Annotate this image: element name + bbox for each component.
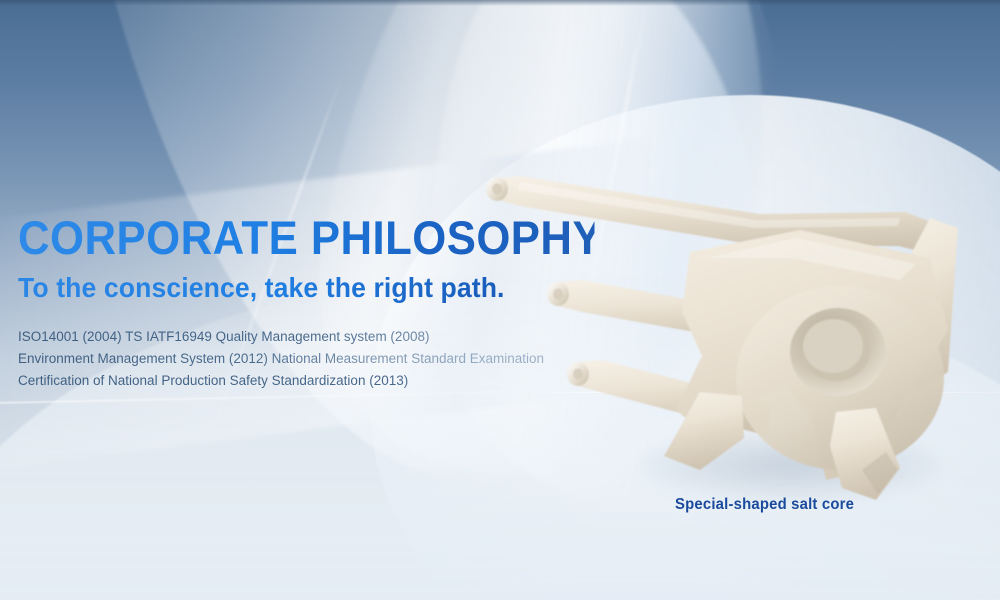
certification-line: ISO14001 (2004) TS IATF16949 Quality Man… xyxy=(18,326,638,348)
product-caption: Special-shaped salt core xyxy=(675,496,854,514)
page-subtitle: To the conscience, take the right path. xyxy=(18,273,607,304)
salt-core-hole-highlight xyxy=(803,319,863,373)
salt-core-tip-upper-inner xyxy=(492,184,502,195)
certification-line: Certification of National Production Saf… xyxy=(18,370,638,392)
certification-list: ISO14001 (2004) TS IATF16949 Quality Man… xyxy=(18,326,638,392)
corporate-philosophy-banner: CORPORATE PHILOSOPHY To the conscience, … xyxy=(0,0,1000,600)
text-block: CORPORATE PHILOSOPHY To the conscience, … xyxy=(18,214,638,392)
certification-line: Environment Management System (2012) Nat… xyxy=(18,348,638,370)
page-title: CORPORATE PHILOSOPHY xyxy=(18,214,595,261)
